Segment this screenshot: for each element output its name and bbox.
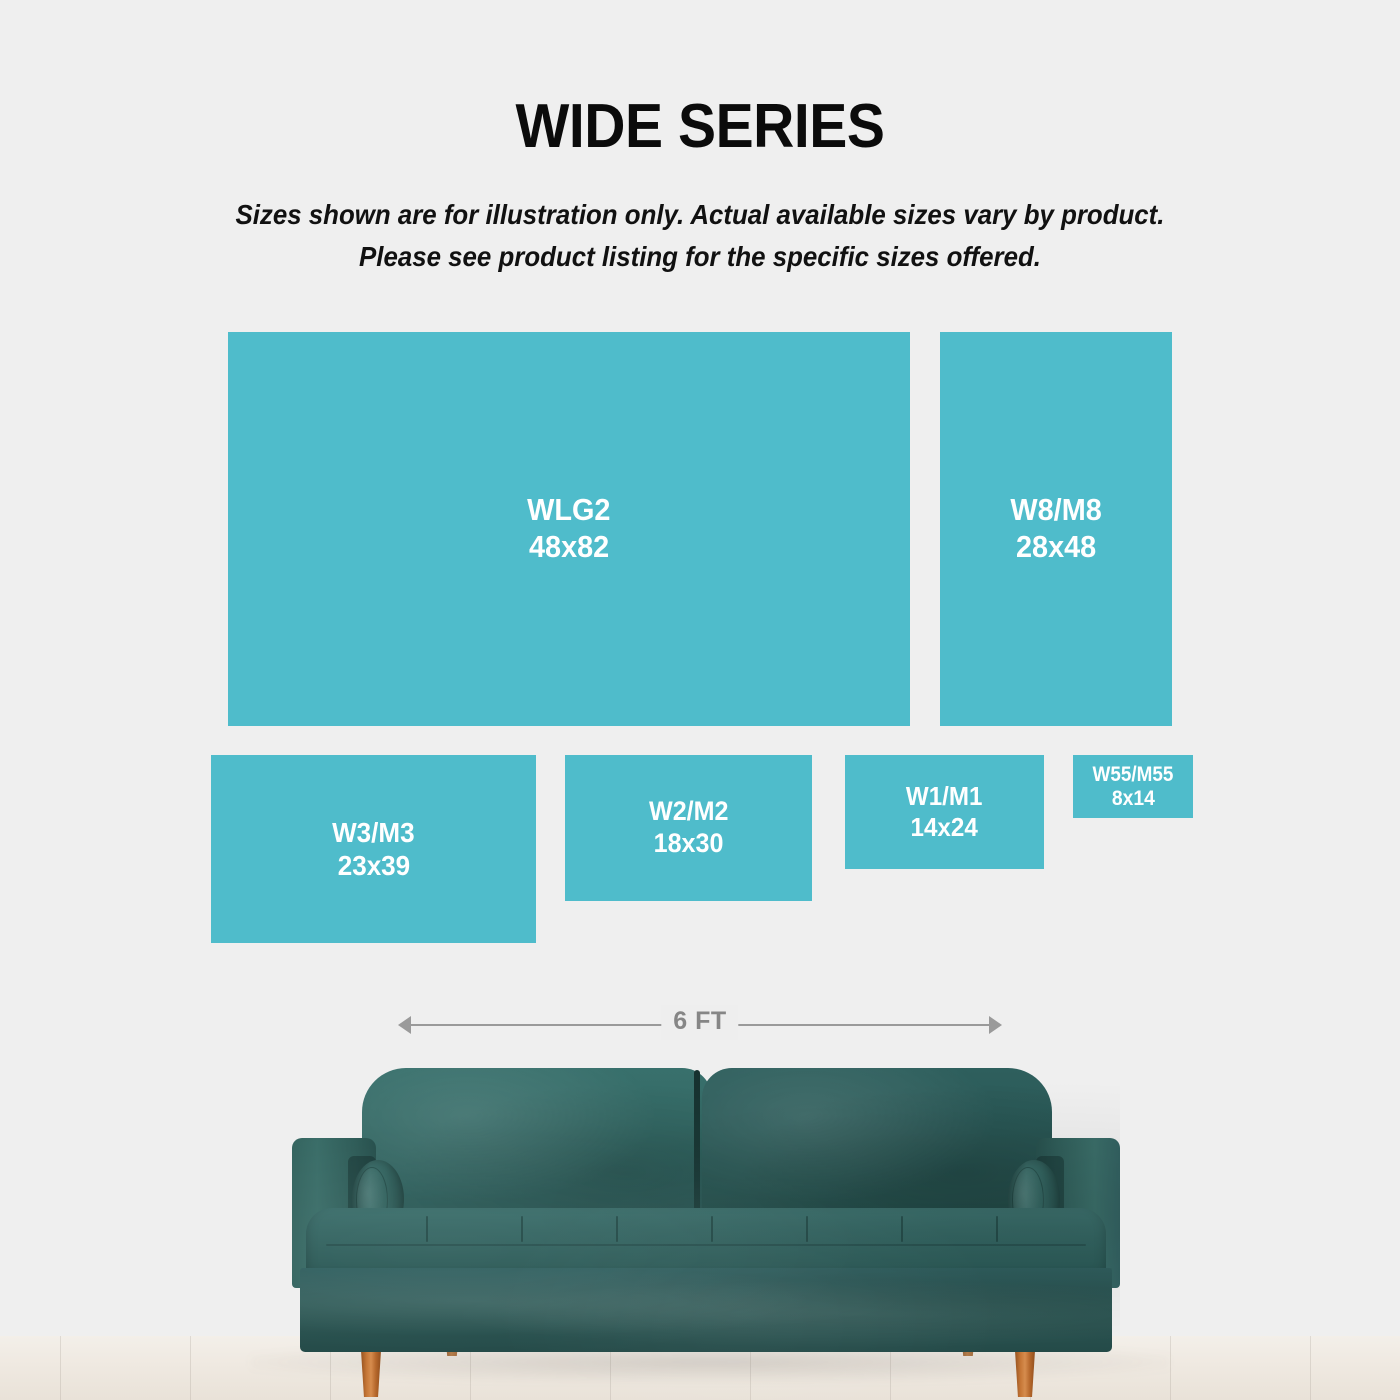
size-box-dimensions: 48x82 xyxy=(529,529,609,566)
size-box-dimensions: 8x14 xyxy=(1112,787,1155,811)
sofa-seat-tuft xyxy=(901,1216,903,1242)
sofa-base xyxy=(300,1268,1112,1352)
floor-plank xyxy=(1310,1336,1311,1400)
floor-plank xyxy=(60,1336,61,1400)
size-box-code: W1/M1 xyxy=(906,781,983,812)
size-box-grid: WLG2 48x82 W8/M8 28x48 W3/M3 23x39 W2/M2… xyxy=(0,0,1400,960)
sofa-seat-tuft xyxy=(996,1216,998,1242)
size-chart-page: WIDE SERIES Sizes shown are for illustra… xyxy=(0,0,1400,1400)
measurement-scale: 6 FT xyxy=(398,1008,1002,1042)
size-box-code: W55/M55 xyxy=(1093,763,1174,787)
size-box-wlg2[interactable]: WLG2 48x82 xyxy=(228,332,910,726)
size-box-w55-m55[interactable]: W55/M55 8x14 xyxy=(1073,755,1193,818)
size-box-w2-m2[interactable]: W2/M2 18x30 xyxy=(565,755,812,901)
size-box-w8-m8[interactable]: W8/M8 28x48 xyxy=(940,332,1172,726)
sofa-back-cushion-right xyxy=(702,1068,1052,1228)
size-box-w1-m1[interactable]: W1/M1 14x24 xyxy=(845,755,1044,869)
measurement-label: 6 FT xyxy=(661,1005,738,1040)
size-box-dimensions: 14x24 xyxy=(911,812,978,843)
sofa-seat-tuft xyxy=(616,1216,618,1242)
sofa-cushion-seam xyxy=(694,1070,700,1228)
size-box-code: W2/M2 xyxy=(649,796,729,828)
room-scene xyxy=(0,1060,1400,1400)
floor-plank xyxy=(190,1336,191,1400)
sofa-seat-tuft xyxy=(521,1216,523,1242)
size-box-code: WLG2 xyxy=(527,492,610,529)
floor-plank xyxy=(1170,1336,1171,1400)
sofa-seat-seam xyxy=(326,1244,1086,1246)
size-box-code: W8/M8 xyxy=(1010,492,1101,529)
sofa-seat-tuft xyxy=(426,1216,428,1242)
sofa-seat-tuft xyxy=(711,1216,713,1242)
size-box-code: W3/M3 xyxy=(332,816,414,849)
sofa-back-cushion-left xyxy=(362,1068,712,1228)
sofa-seat-tuft xyxy=(806,1216,808,1242)
sofa xyxy=(292,1060,1120,1400)
size-box-w3-m3[interactable]: W3/M3 23x39 xyxy=(211,755,536,943)
size-box-dimensions: 23x39 xyxy=(337,849,409,882)
arrow-right-icon xyxy=(989,1016,1002,1034)
size-box-dimensions: 28x48 xyxy=(1016,529,1096,566)
size-box-dimensions: 18x30 xyxy=(654,828,724,860)
